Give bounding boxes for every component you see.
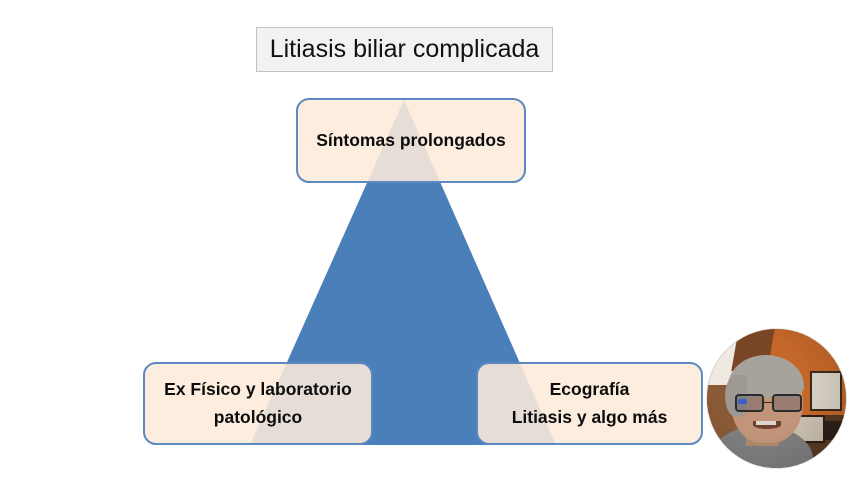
webcam-vignette: [707, 329, 846, 468]
presentation-slide: Litiasis biliar complicada Síntomas prol…: [0, 0, 848, 477]
node-bottom-right-line-2: Litiasis y algo más: [512, 404, 668, 431]
slide-title-box: Litiasis biliar complicada: [256, 27, 553, 72]
page-title: Litiasis biliar complicada: [270, 37, 540, 62]
presenter-video-bubble[interactable]: [707, 329, 846, 468]
node-ex-fisico-laboratorio[interactable]: Ex Físico y laboratorio patológico: [143, 362, 373, 445]
node-sintomas-prolongados[interactable]: Síntomas prolongados: [296, 98, 526, 183]
node-ecografia[interactable]: Ecografía Litiasis y algo más: [476, 362, 703, 445]
node-top-line-1: Síntomas prolongados: [316, 127, 506, 154]
node-bottom-right-line-1: Ecografía: [550, 376, 630, 403]
node-bottom-left-line-1: Ex Físico y laboratorio: [164, 376, 352, 403]
webcam-scene: [707, 329, 846, 468]
node-bottom-left-line-2: patológico: [214, 404, 302, 431]
